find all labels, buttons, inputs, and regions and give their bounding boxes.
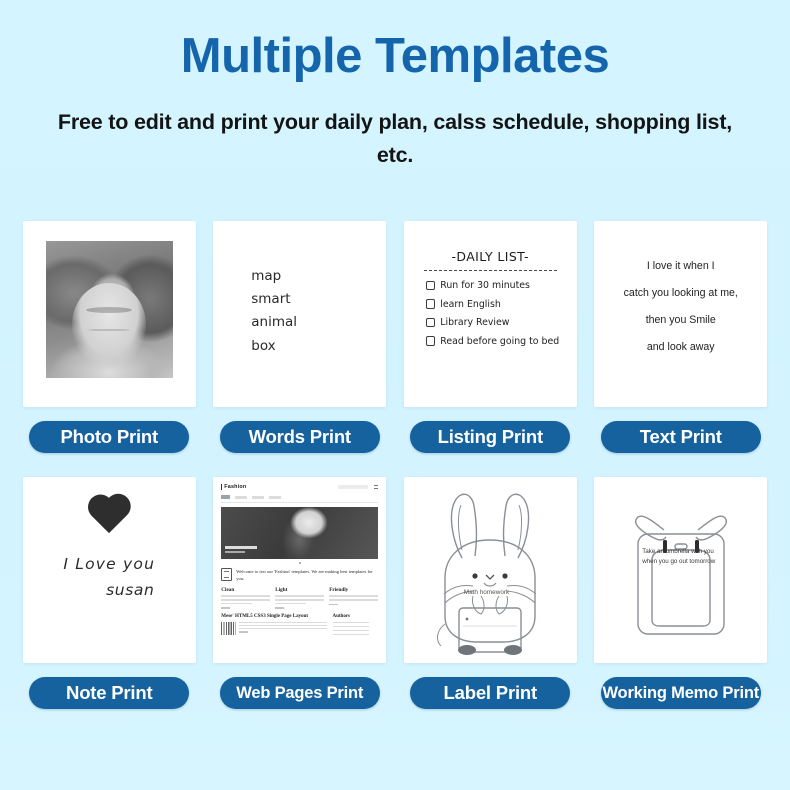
- web-pages-print-button[interactable]: Web Pages Print: [220, 677, 380, 709]
- template-card-listing-print[interactable]: -DAILY LIST- Run for 30 minutes learn En…: [395, 221, 586, 453]
- hero-caption: [225, 546, 257, 553]
- note-line-2: susan: [23, 581, 196, 599]
- template-card-label-print[interactable]: Math homework Label Print: [395, 477, 586, 709]
- text-placeholder-bar: [333, 622, 370, 624]
- words-print-button[interactable]: Words Print: [220, 421, 380, 453]
- note-print-button[interactable]: Note Print: [29, 677, 189, 709]
- read-more-link[interactable]: [221, 607, 230, 609]
- todo-item[interactable]: Read before going to bed: [426, 336, 561, 347]
- document-icon: [221, 568, 232, 581]
- text-placeholder-bar: [333, 630, 370, 632]
- text-placeholder-bar: [239, 625, 326, 627]
- todo-item[interactable]: learn English: [426, 299, 561, 310]
- page-header: Multiple Templates Free to edit and prin…: [0, 0, 790, 171]
- page-title: Multiple Templates: [0, 30, 790, 84]
- nav-item[interactable]: [269, 496, 281, 499]
- template-card-note-print[interactable]: I Love you susan Note Print: [14, 477, 205, 709]
- word-item: map: [251, 265, 297, 288]
- word-item: box: [251, 335, 297, 358]
- text-placeholder-bar: [239, 628, 326, 630]
- template-showcase-page: Multiple Templates Free to edit and prin…: [0, 0, 790, 790]
- heart-icon: [92, 498, 127, 533]
- text-print-preview[interactable]: I love it when I catch you looking at me…: [594, 221, 767, 407]
- memo-text: Take an umbrella with you when you go ou…: [642, 547, 720, 567]
- daily-list-title: -DAILY LIST-: [420, 249, 561, 264]
- webpage-topbar: Fashion: [221, 484, 378, 490]
- checkbox-icon[interactable]: [426, 299, 436, 309]
- text-placeholder-bar: [221, 603, 251, 605]
- text-lines: I love it when I catch you looking at me…: [594, 253, 767, 361]
- dashed-divider: [424, 270, 557, 271]
- text-placeholder-bar: [221, 595, 270, 597]
- checkbox-icon[interactable]: [426, 336, 436, 346]
- bullet-icon: [466, 618, 469, 621]
- daily-list: -DAILY LIST- Run for 30 minutes learn En…: [404, 249, 577, 354]
- todo-item[interactable]: Run for 30 minutes: [426, 280, 561, 291]
- footer-side: Authors: [333, 614, 379, 635]
- photo-print-button[interactable]: Photo Print: [29, 421, 189, 453]
- webpage-column: Clean: [221, 587, 270, 609]
- note-print-preview[interactable]: I Love you susan: [23, 477, 196, 663]
- todo-label: Run for 30 minutes: [440, 280, 530, 291]
- carousel-dots[interactable]: [221, 562, 378, 564]
- text-line: catch you looking at me,: [602, 280, 759, 307]
- template-card-web-pages-print[interactable]: Fashion: [205, 477, 396, 709]
- webpage-intro: Welcome to test our 'Fashion' templates.…: [221, 568, 378, 582]
- todo-label: Read before going to bed: [440, 336, 559, 347]
- text-placeholder-bar: [275, 595, 324, 597]
- bunny-eye-left: [473, 573, 478, 578]
- working-memo-print-button[interactable]: Working Memo Print: [601, 677, 761, 709]
- webpage-column: Light: [275, 587, 324, 609]
- bunny-foot-left: [458, 645, 476, 655]
- webpage-column: Friendly: [329, 587, 378, 609]
- checkbox-icon[interactable]: [426, 318, 436, 328]
- text-placeholder-bar: [275, 599, 324, 601]
- label-print-preview[interactable]: Math homework: [404, 477, 577, 663]
- bunny-foot-right: [504, 645, 522, 655]
- photo-print-preview[interactable]: [23, 221, 196, 407]
- text-line: then you Smile: [602, 307, 759, 334]
- template-card-words-print[interactable]: map smart animal box Words Print: [205, 221, 396, 453]
- bunny-eye-right: [503, 573, 508, 578]
- todo-label: Library Review: [440, 317, 509, 328]
- nav-item[interactable]: [252, 496, 264, 499]
- portrait-photo-image: [46, 241, 173, 378]
- text-print-button[interactable]: Text Print: [601, 421, 761, 453]
- template-card-photo-print[interactable]: Photo Print: [14, 221, 205, 453]
- words-print-preview[interactable]: map smart animal box: [213, 221, 386, 407]
- text-placeholder-bar: [333, 634, 370, 636]
- page-subtitle: Free to edit and print your daily plan, …: [0, 106, 790, 171]
- template-card-text-print[interactable]: I love it when I catch you looking at me…: [586, 221, 777, 453]
- checkbox-icon[interactable]: [426, 281, 436, 291]
- label-text: Math homework: [464, 589, 509, 596]
- todo-item[interactable]: Library Review: [426, 317, 561, 328]
- webpage-intro-text: Welcome to test our 'Fashion' templates.…: [236, 568, 378, 582]
- working-memo-print-preview[interactable]: Take an umbrella with you when you go ou…: [594, 477, 767, 663]
- template-card-working-memo-print[interactable]: Take an umbrella with you when you go ou…: [586, 477, 777, 709]
- nav-item-active[interactable]: [221, 495, 230, 499]
- search-icon[interactable]: [338, 485, 368, 490]
- text-placeholder-bar: [333, 626, 370, 628]
- text-placeholder-bar: [221, 599, 270, 601]
- bunny-label-illustration: [404, 477, 577, 663]
- memo-tag-icon: [606, 490, 756, 650]
- footer-main: Mese' HTML5 CSS3 Single Page Layout: [221, 614, 326, 635]
- webpage-nav: [221, 495, 378, 503]
- hero-caption-subline: [225, 551, 245, 553]
- text-line: I love it when I: [602, 253, 759, 280]
- webpage-footer: Mese' HTML5 CSS3 Single Page Layout: [221, 614, 378, 635]
- read-more-link[interactable]: [239, 631, 248, 633]
- webpage-logo: Fashion: [221, 484, 246, 490]
- word-item: animal: [251, 311, 297, 334]
- webpage-mockup: Fashion: [213, 477, 386, 663]
- footer-title: Mese' HTML5 CSS3 Single Page Layout: [221, 614, 326, 619]
- footer-row: [221, 622, 326, 635]
- webpage-columns: Clean Light: [221, 587, 378, 609]
- memo-tag-illustration: [594, 477, 767, 663]
- column-title: Friendly: [329, 587, 378, 593]
- template-grid: Photo Print map smart animal box Words P…: [0, 221, 790, 733]
- webpage-hero-image: [221, 507, 378, 559]
- web-pages-print-preview[interactable]: Fashion: [213, 477, 386, 663]
- carousel-dot[interactable]: [299, 562, 301, 564]
- qr-code-icon: [221, 622, 236, 635]
- text-placeholder-bar: [275, 603, 305, 605]
- listing-print-preview[interactable]: -DAILY LIST- Run for 30 minutes learn En…: [404, 221, 577, 407]
- word-item: smart: [251, 288, 297, 311]
- words-list: map smart animal box: [251, 265, 297, 358]
- read-more-link[interactable]: [329, 604, 338, 606]
- hero-caption-line: [225, 546, 257, 550]
- text-placeholder-bar: [239, 622, 326, 624]
- text-placeholder-bar: [329, 599, 378, 601]
- footer-text-lines: [239, 622, 326, 635]
- todo-label: learn English: [440, 299, 501, 310]
- polaroid-frame: [36, 231, 183, 397]
- text-line: and look away: [602, 334, 759, 361]
- column-title: Light: [275, 587, 324, 593]
- column-title: Clean: [221, 587, 270, 593]
- text-placeholder-bar: [329, 595, 378, 597]
- note-line-1: I Love you: [23, 555, 196, 573]
- footer-side-title: Authors: [333, 614, 379, 619]
- read-more-link[interactable]: [275, 607, 284, 609]
- bunny-icon: [415, 484, 565, 656]
- listing-print-button[interactable]: Listing Print: [410, 421, 570, 453]
- menu-icon[interactable]: [374, 485, 378, 489]
- nav-item[interactable]: [235, 496, 247, 499]
- label-print-button[interactable]: Label Print: [410, 677, 570, 709]
